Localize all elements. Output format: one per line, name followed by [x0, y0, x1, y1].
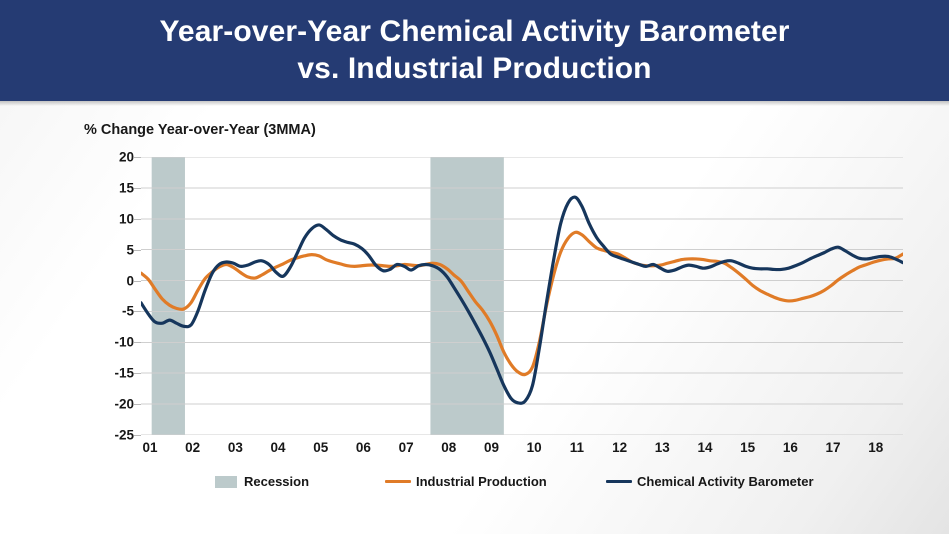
slide-canvas: Year-over-Year Chemical Activity Baromet…	[0, 0, 949, 534]
x-axis-tick-label: 13	[655, 440, 670, 455]
page-title-line2: vs. Industrial Production	[297, 52, 651, 85]
y-axis-tick-mark	[134, 157, 141, 158]
x-axis-tick-label: 02	[185, 440, 200, 455]
y-axis-tick-mark	[134, 219, 141, 220]
x-axis-tick-label: 09	[484, 440, 499, 455]
x-axis-tick-label: 05	[313, 440, 328, 455]
chart-svg	[141, 157, 903, 435]
y-axis-tick-label: -10	[114, 335, 134, 350]
legend-label: Chemical Activity Barometer	[637, 474, 814, 489]
y-axis-tick-label: -25	[114, 428, 134, 443]
y-axis-tick-label: 10	[119, 211, 134, 226]
legend-swatch-box-icon	[215, 476, 237, 488]
page-title: Year-over-Year Chemical Activity Baromet…	[119, 14, 829, 87]
y-axis-tick-mark	[134, 373, 141, 374]
x-axis-tick-label: 03	[228, 440, 243, 455]
legend-swatch-line-icon	[385, 480, 411, 484]
legend-label: Recession	[244, 474, 309, 489]
y-axis-tick-mark	[134, 435, 141, 436]
page-title-line1: Year-over-Year Chemical Activity Baromet…	[159, 15, 789, 48]
y-axis-tick-label: 15	[119, 180, 134, 195]
x-axis-tick-label: 08	[441, 440, 456, 455]
series-line	[141, 232, 903, 374]
y-axis-tick-marks	[134, 157, 141, 435]
y-axis-tick-mark	[134, 281, 141, 282]
y-axis-title: % Change Year-over-Year (3MMA)	[84, 122, 316, 138]
recession-band	[430, 157, 503, 435]
y-axis-tick-label: -5	[122, 304, 134, 319]
y-axis-tick-labels: 20151050-5-10-15-20-25	[96, 157, 134, 435]
chart-container: % Change Year-over-Year (3MMA) 20151050-…	[0, 106, 949, 534]
x-axis-tick-label: 12	[612, 440, 627, 455]
x-axis-tick-label: 11	[570, 440, 584, 455]
y-axis-tick-label: -20	[114, 397, 134, 412]
x-axis-tick-label: 16	[783, 440, 798, 455]
recession-band	[152, 157, 185, 435]
legend-label: Industrial Production	[416, 474, 547, 489]
x-axis-tick-labels: 010203040506070809101112131415161718	[141, 440, 903, 462]
y-axis-tick-mark	[134, 342, 141, 343]
legend-item[interactable]: Industrial Production	[385, 474, 547, 489]
legend-item[interactable]: Recession	[215, 474, 309, 489]
x-axis-tick-label: 17	[826, 440, 841, 455]
x-axis-tick-label: 01	[142, 440, 157, 455]
legend-item[interactable]: Chemical Activity Barometer	[606, 474, 814, 489]
y-axis-tick-mark	[134, 188, 141, 189]
y-axis-tick-mark	[134, 404, 141, 405]
x-axis-tick-label: 15	[740, 440, 755, 455]
y-axis-tick-label: 5	[126, 242, 134, 257]
y-axis-tick-mark	[134, 250, 141, 251]
y-axis-tick-label: 0	[126, 273, 134, 288]
gridlines	[141, 157, 903, 435]
x-axis-tick-label: 06	[356, 440, 371, 455]
chart-legend: RecessionIndustrial ProductionChemical A…	[141, 474, 903, 498]
legend-swatch-line-icon	[606, 480, 632, 484]
x-axis-tick-label: 04	[271, 440, 286, 455]
y-axis-tick-label: -15	[114, 366, 134, 381]
x-axis-tick-label: 14	[697, 440, 712, 455]
plot-area	[141, 157, 903, 435]
x-axis-tick-label: 18	[868, 440, 883, 455]
data-series-lines	[141, 197, 903, 403]
y-axis-tick-mark	[134, 311, 141, 312]
title-banner: Year-over-Year Chemical Activity Baromet…	[0, 0, 949, 101]
y-axis-tick-label: 20	[119, 150, 134, 165]
x-axis-tick-label: 10	[527, 440, 542, 455]
x-axis-tick-label: 07	[399, 440, 414, 455]
